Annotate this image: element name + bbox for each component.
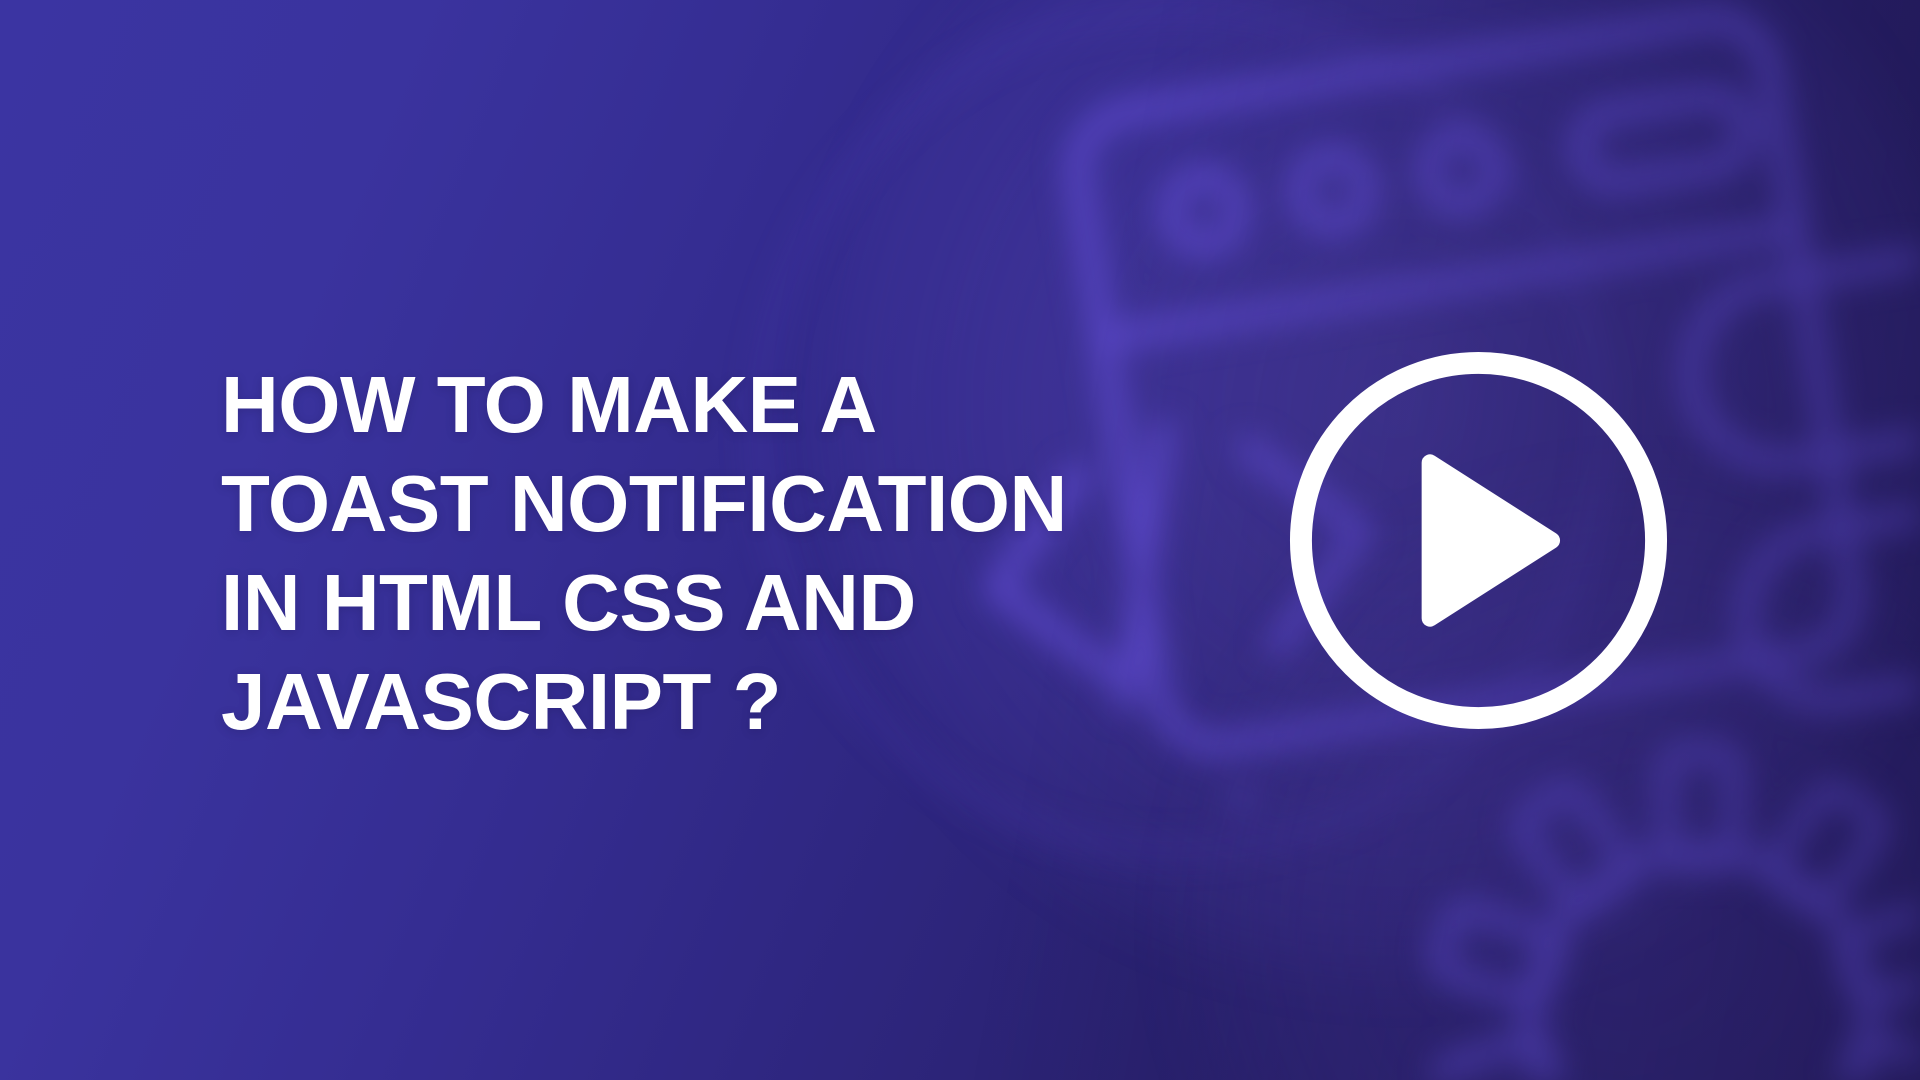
title-line-1: HOW TO MAKE A [221, 355, 1231, 454]
title-line-3: IN HTML CSS AND [221, 553, 1231, 652]
play-button[interactable] [1279, 341, 1678, 740]
decor-dot [1233, 789, 1251, 807]
thumbnail-title: HOW TO MAKE A TOAST NOTIFICATION IN HTML… [221, 355, 1231, 751]
pill-shapes [1678, 245, 1920, 712]
play-circle-icon[interactable] [1279, 341, 1678, 740]
title-line-2: TOAST NOTIFICATION [221, 454, 1231, 553]
title-line-4: JAVASCRIPT ? [221, 652, 1231, 751]
gear-shape [1435, 752, 1920, 1080]
play-triangle [1422, 454, 1560, 626]
video-thumbnail: HOW TO MAKE A TOAST NOTIFICATION IN HTML… [0, 0, 1920, 1080]
